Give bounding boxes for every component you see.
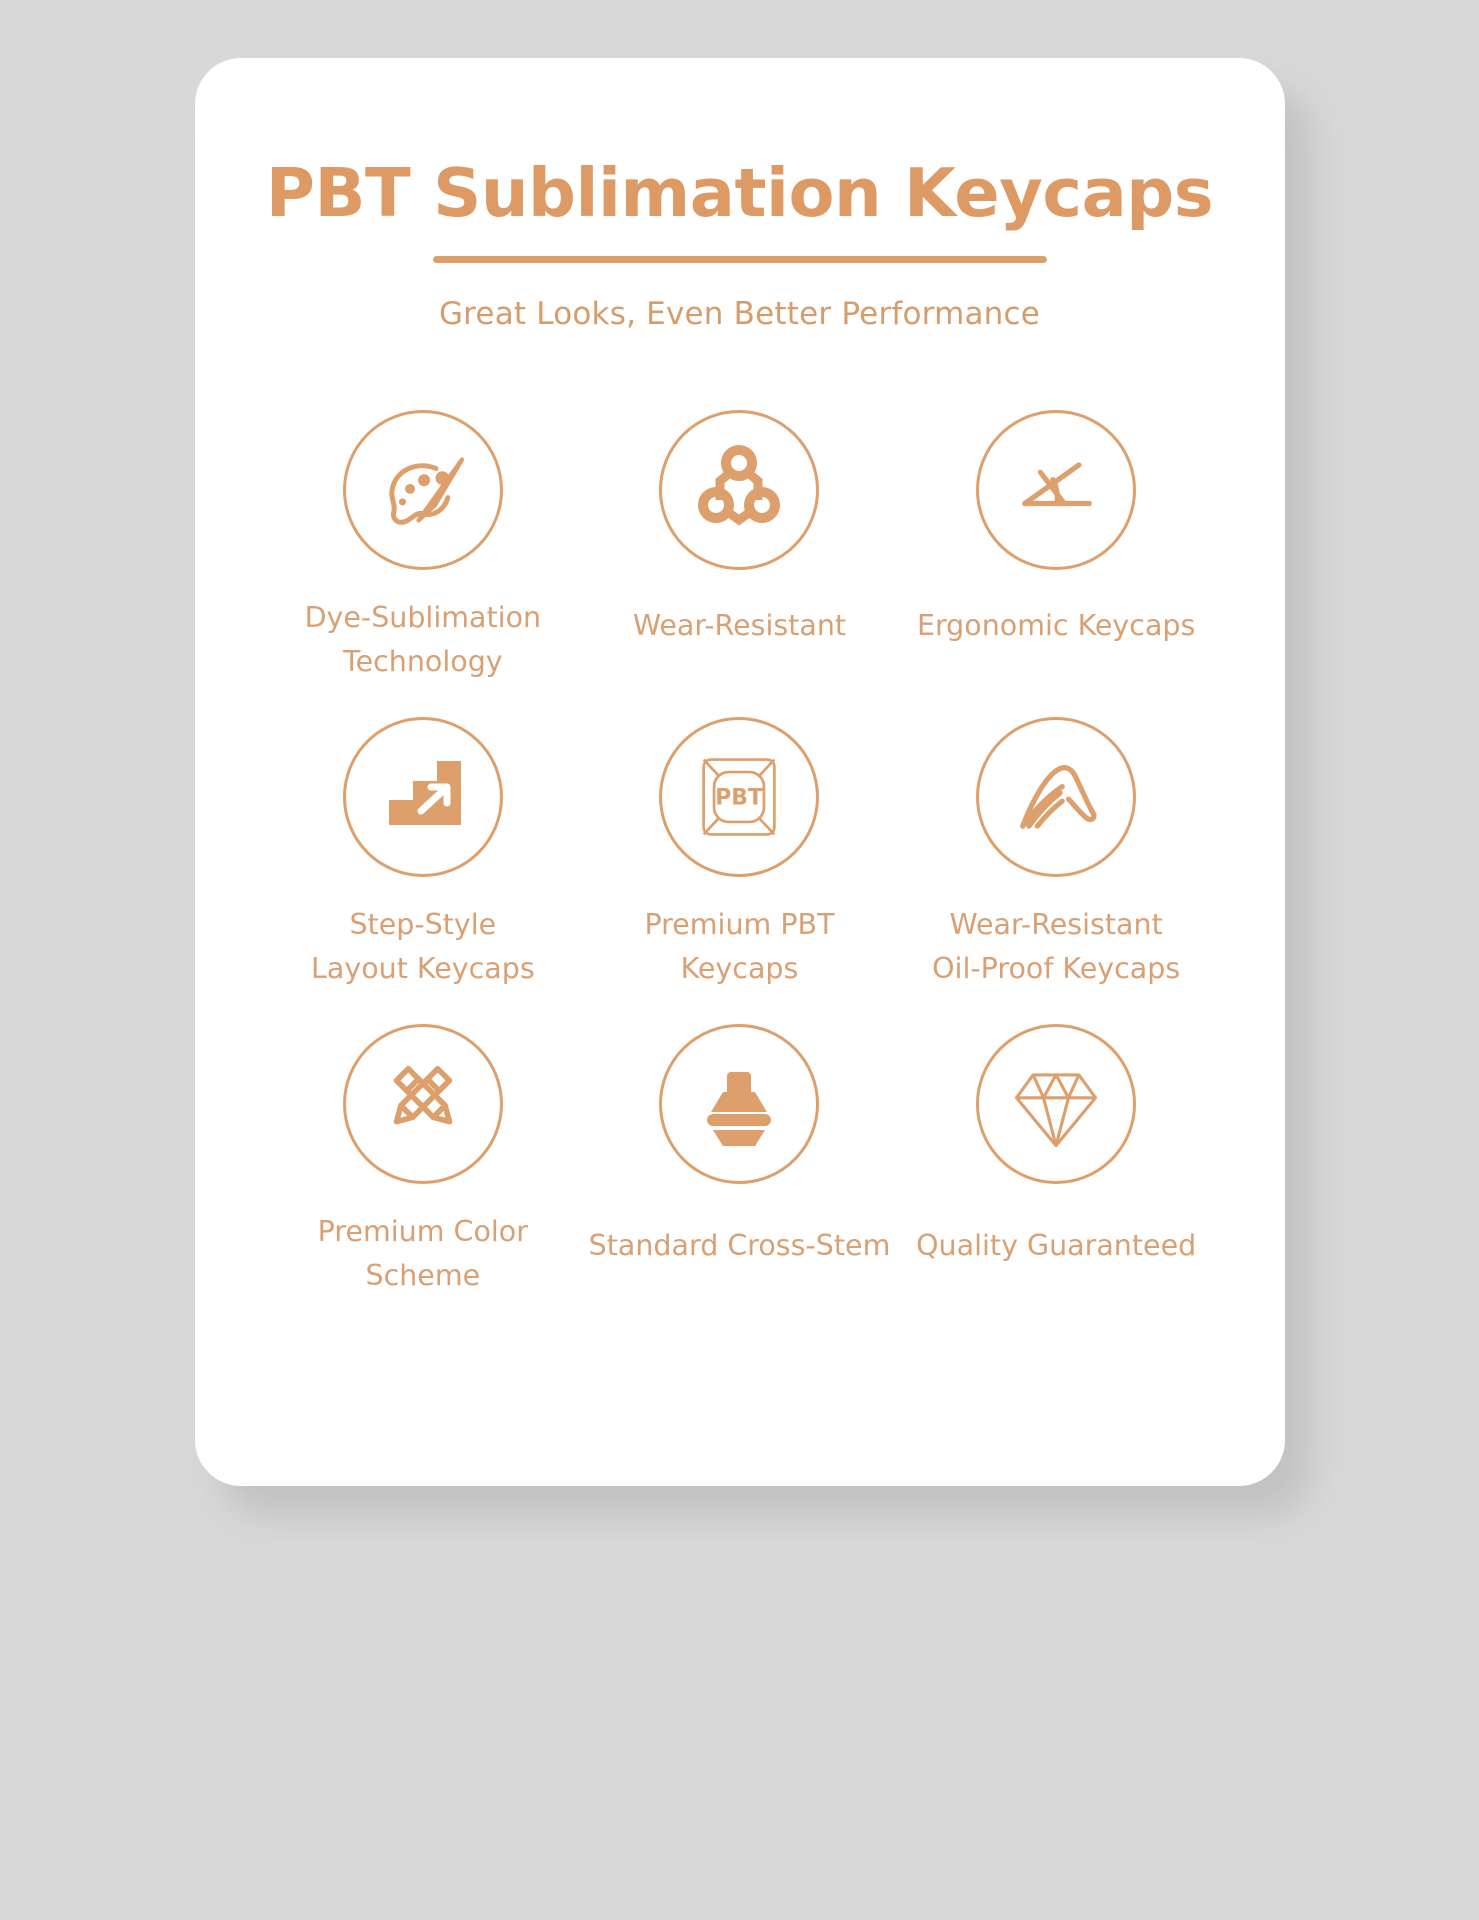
feature-label: Wear-Resistant Oil-Proof Keycaps [932, 903, 1180, 991]
feature-label: Quality Guaranteed [916, 1224, 1196, 1268]
palette-icon [343, 410, 503, 570]
feature-label: Dye-Sublimation Technology [305, 596, 542, 684]
feature-label: Standard Cross-Stem [589, 1224, 891, 1268]
feature-item-premium-pbt[interactable]: PBT Premium PBT Keycaps [581, 717, 898, 1024]
wing-icon [976, 717, 1136, 877]
diamond-icon [976, 1024, 1136, 1184]
feature-label: Ergonomic Keycaps [917, 604, 1195, 648]
feature-card: PBT Sublimation Keycaps Great Looks, Eve… [195, 58, 1285, 1486]
angle-icon [976, 410, 1136, 570]
feature-item-cross-stem[interactable]: Standard Cross-Stem [581, 1024, 898, 1331]
pbt-keycap-icon: PBT [659, 717, 819, 877]
page-background: PBT Sublimation Keycaps Great Looks, Eve… [0, 0, 1479, 1920]
page-title: PBT Sublimation Keycaps [265, 158, 1215, 229]
feature-item-oil-proof[interactable]: Wear-Resistant Oil-Proof Keycaps [898, 717, 1215, 1024]
title-divider [433, 256, 1047, 263]
feature-label: Step-Style Layout Keycaps [311, 903, 535, 991]
feature-label: Wear-Resistant [633, 604, 846, 648]
pbt-keycap-icon-text: PBT [716, 785, 764, 810]
feature-item-dye-sublimation[interactable]: Dye-Sublimation Technology [265, 410, 582, 717]
molecule-icon [659, 410, 819, 570]
feature-item-ergonomic[interactable]: Ergonomic Keycaps [898, 410, 1215, 717]
feature-item-wear-resistant[interactable]: Wear-Resistant [581, 410, 898, 717]
card-header: PBT Sublimation Keycaps Great Looks, Eve… [265, 158, 1215, 332]
pencils-icon [343, 1024, 503, 1184]
feature-item-color-scheme[interactable]: Premium Color Scheme [265, 1024, 582, 1331]
feature-label: Premium Color Scheme [318, 1210, 528, 1298]
feature-grid: Dye-Sublimation Technology [265, 410, 1215, 1331]
stairs-arrow-icon [343, 717, 503, 877]
cross-stem-icon [659, 1024, 819, 1184]
feature-item-quality[interactable]: Quality Guaranteed [898, 1024, 1215, 1331]
feature-item-step-style[interactable]: Step-Style Layout Keycaps [265, 717, 582, 1024]
feature-label: Premium PBT Keycaps [644, 903, 834, 991]
page-subtitle: Great Looks, Even Better Performance [265, 296, 1215, 332]
